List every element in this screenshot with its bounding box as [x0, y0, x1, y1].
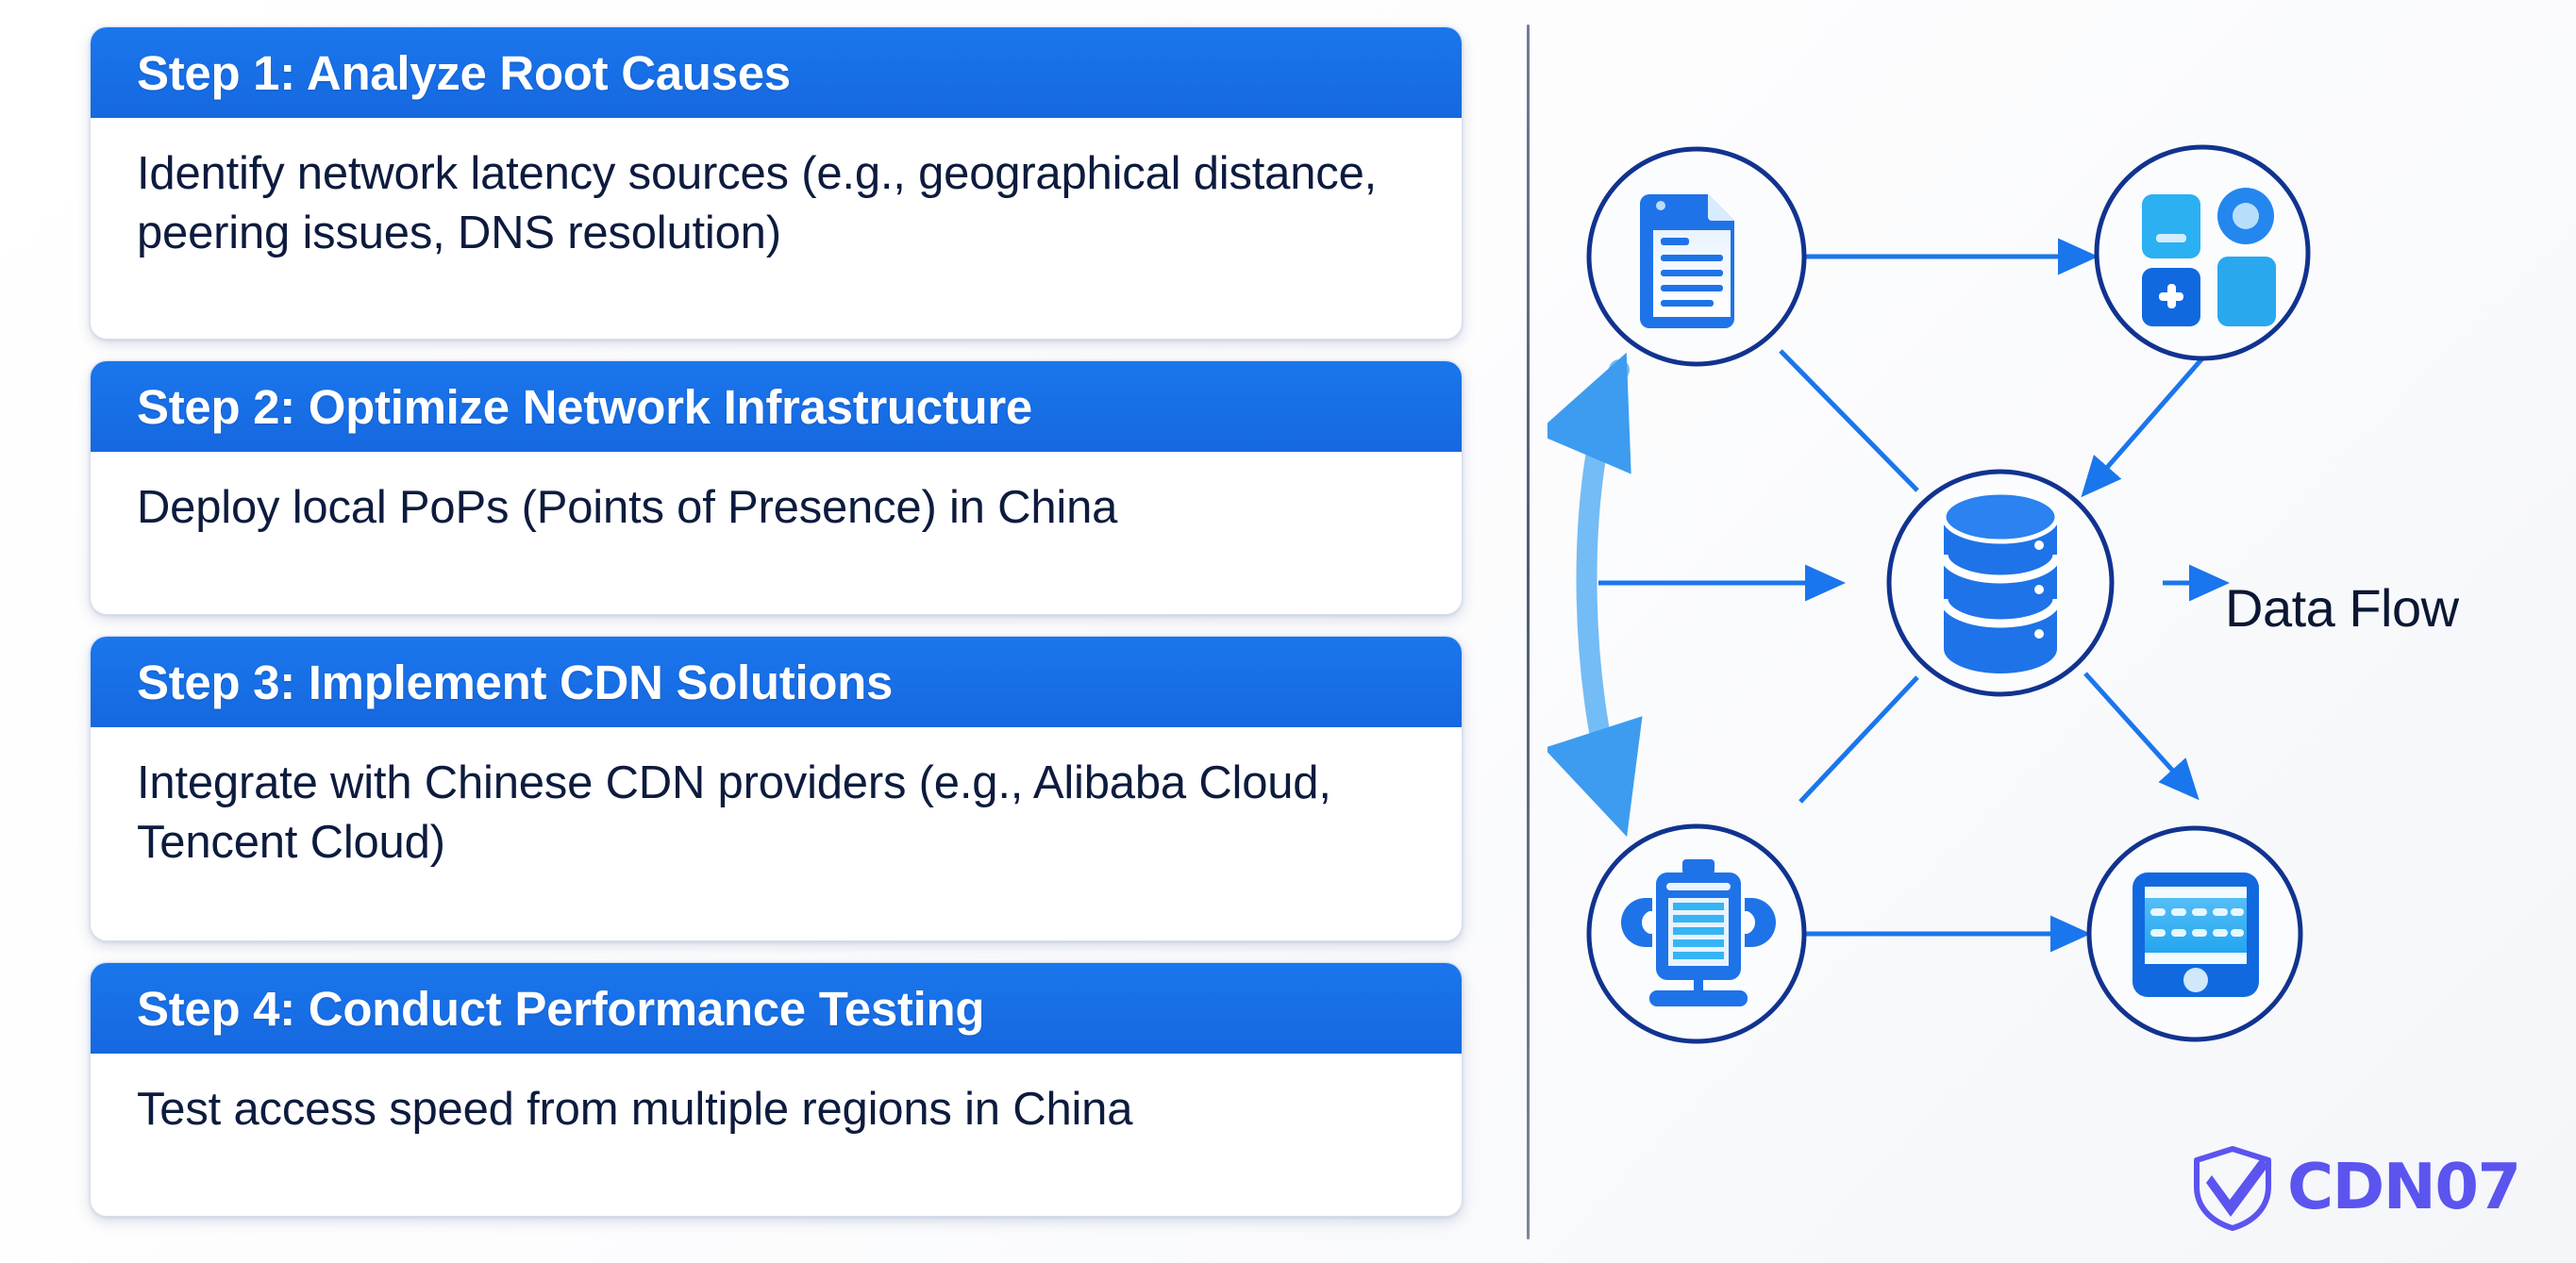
- step-card-1[interactable]: Step 1: Analyze Root Causes Identify net…: [90, 26, 1463, 340]
- step-2-title: Step 2: Optimize Network Infrastructure: [91, 361, 1462, 452]
- node-dashboard-circle: [2097, 147, 2308, 358]
- document-icon: [1640, 194, 1734, 328]
- connector-database-server: [1800, 677, 1917, 802]
- connector-document-database: [1781, 351, 1917, 490]
- step-1-body: Identify network latency sources (e.g., …: [91, 118, 1462, 339]
- infographic-page: Step 1: Analyze Root Causes Identify net…: [0, 0, 2576, 1263]
- node-database[interactable]: [1889, 472, 2112, 694]
- step-3-title: Step 3: Implement CDN Solutions: [91, 637, 1462, 727]
- step-card-2[interactable]: Step 2: Optimize Network Infrastructure …: [90, 360, 1463, 615]
- shield-check-icon: [2187, 1141, 2278, 1232]
- connector-feedback-loop: [1587, 370, 1620, 813]
- database-icon: [1944, 492, 2057, 673]
- node-document[interactable]: [1589, 149, 1804, 364]
- node-server[interactable]: [1589, 826, 1804, 1041]
- step-2-body: Deploy local PoPs (Points of Presence) i…: [91, 452, 1462, 614]
- connector-database-tablet: [2085, 673, 2195, 795]
- step-3-body: Integrate with Chinese CDN providers (e.…: [91, 727, 1462, 940]
- step-1-title: Step 1: Analyze Root Causes: [91, 27, 1462, 118]
- tablet-icon: [2133, 872, 2259, 997]
- cdn07-logo[interactable]: CDN07: [2187, 1141, 2520, 1232]
- node-tablet[interactable]: [2089, 828, 2300, 1039]
- step-4-body: Test access speed from multiple regions …: [91, 1054, 1462, 1216]
- step-card-4[interactable]: Step 4: Conduct Performance Testing Test…: [90, 962, 1463, 1217]
- data-flow-label: Data Flow: [2225, 577, 2459, 639]
- steps-panel: Step 1: Analyze Root Causes Identify net…: [90, 26, 1463, 1243]
- network-diagram: Data Flow: [1547, 0, 2576, 1263]
- connector-dashboard-database: [2085, 358, 2202, 492]
- step-4-title: Step 4: Conduct Performance Testing: [91, 963, 1462, 1054]
- logo-text: CDN07: [2287, 1155, 2520, 1219]
- step-card-3[interactable]: Step 3: Implement CDN Solutions Integrat…: [90, 636, 1463, 941]
- vertical-divider: [1527, 25, 1530, 1239]
- node-dashboard[interactable]: [2097, 147, 2308, 358]
